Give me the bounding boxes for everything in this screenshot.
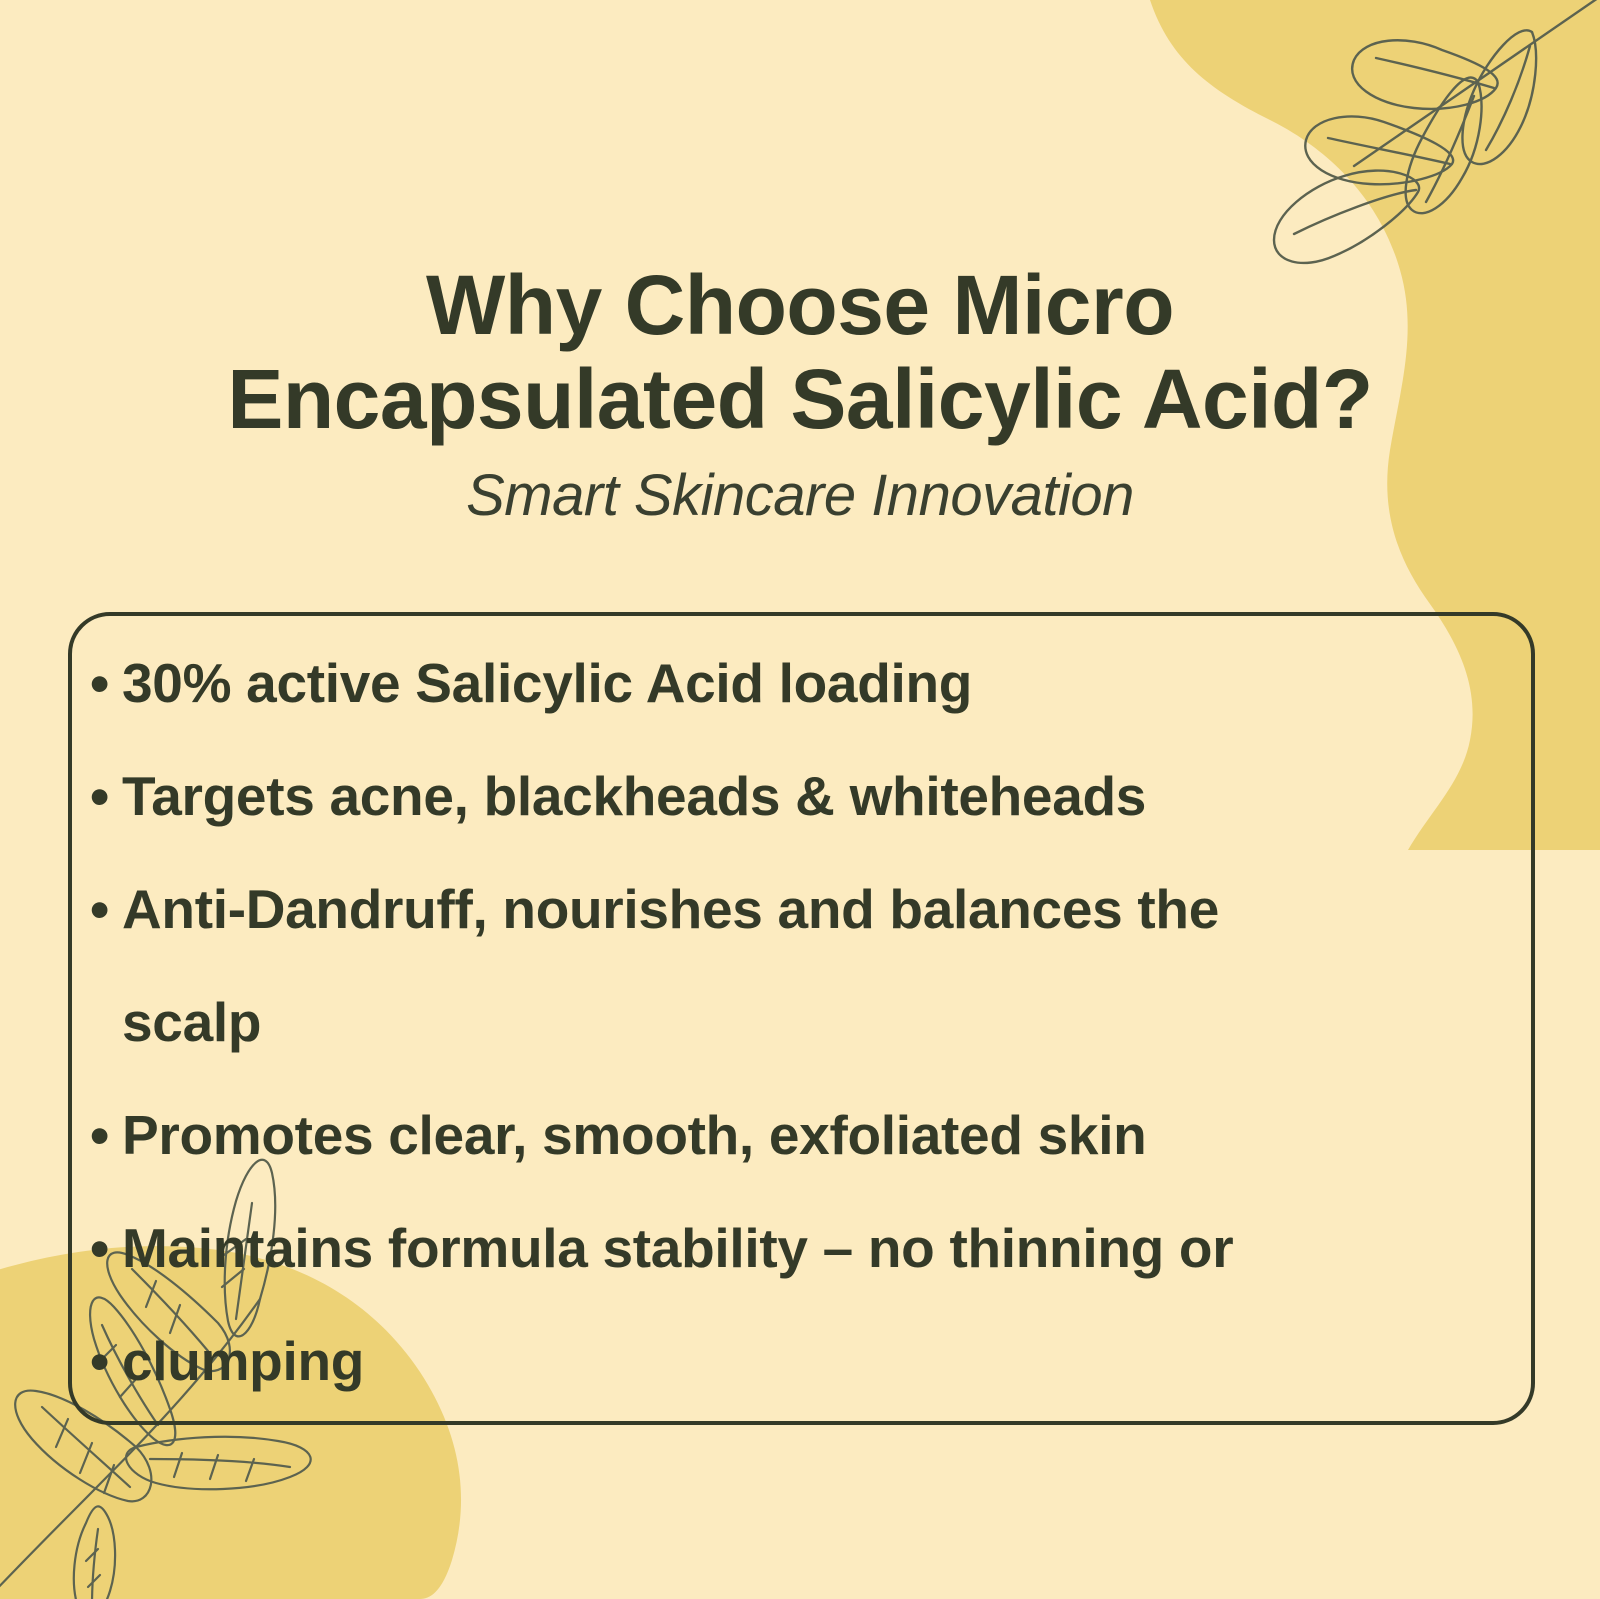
bullet-dot-icon: • — [90, 769, 122, 824]
list-item: • Promotes clear, smooth, exfoliated ski… — [90, 1064, 1550, 1177]
list-item-label: 30% active Salicylic Acid loading — [122, 656, 1550, 711]
page-subtitle: Smart Skincare Innovation — [0, 460, 1600, 533]
list-item-continuation: scalp — [90, 951, 1550, 1064]
list-item-label: Anti-Dandruff, nourishes and balances th… — [122, 882, 1550, 937]
list-item-label: clumping — [122, 1334, 1550, 1389]
list-item: • Targets acne, blackheads & whiteheads — [90, 725, 1550, 838]
title-line-2: Encapsulated Salicylic Acid? — [227, 352, 1372, 446]
list-item-label: Maintains formula stability – no thinnin… — [122, 1221, 1550, 1276]
list-item: • Maintains formula stability – no thinn… — [90, 1177, 1550, 1290]
poster-canvas: Why Choose Micro Encapsulated Salicylic … — [0, 0, 1600, 1599]
benefits-list: • 30% active Salicylic Acid loading • Ta… — [90, 612, 1550, 1403]
bullet-dot-icon: • — [90, 1108, 122, 1163]
bullet-dot-icon: • — [90, 656, 122, 711]
title-line-1: Why Choose Micro — [426, 258, 1174, 352]
list-item-label: Targets acne, blackheads & whiteheads — [122, 769, 1550, 824]
list-item-label: Promotes clear, smooth, exfoliated skin — [122, 1108, 1550, 1163]
bullet-dot-icon: • — [90, 1221, 122, 1276]
list-item: • clumping — [90, 1290, 1550, 1403]
leaf-branch-top-right-icon — [1246, 0, 1600, 280]
bullet-dot-icon: • — [90, 1334, 122, 1389]
list-item: • 30% active Salicylic Acid loading — [90, 612, 1550, 725]
heading-block: Why Choose Micro Encapsulated Salicylic … — [0, 258, 1600, 533]
bullet-dot-icon: • — [90, 882, 122, 937]
page-title: Why Choose Micro Encapsulated Salicylic … — [0, 258, 1600, 446]
list-item: • Anti-Dandruff, nourishes and balances … — [90, 838, 1550, 951]
list-item-label: scalp — [122, 995, 1550, 1050]
